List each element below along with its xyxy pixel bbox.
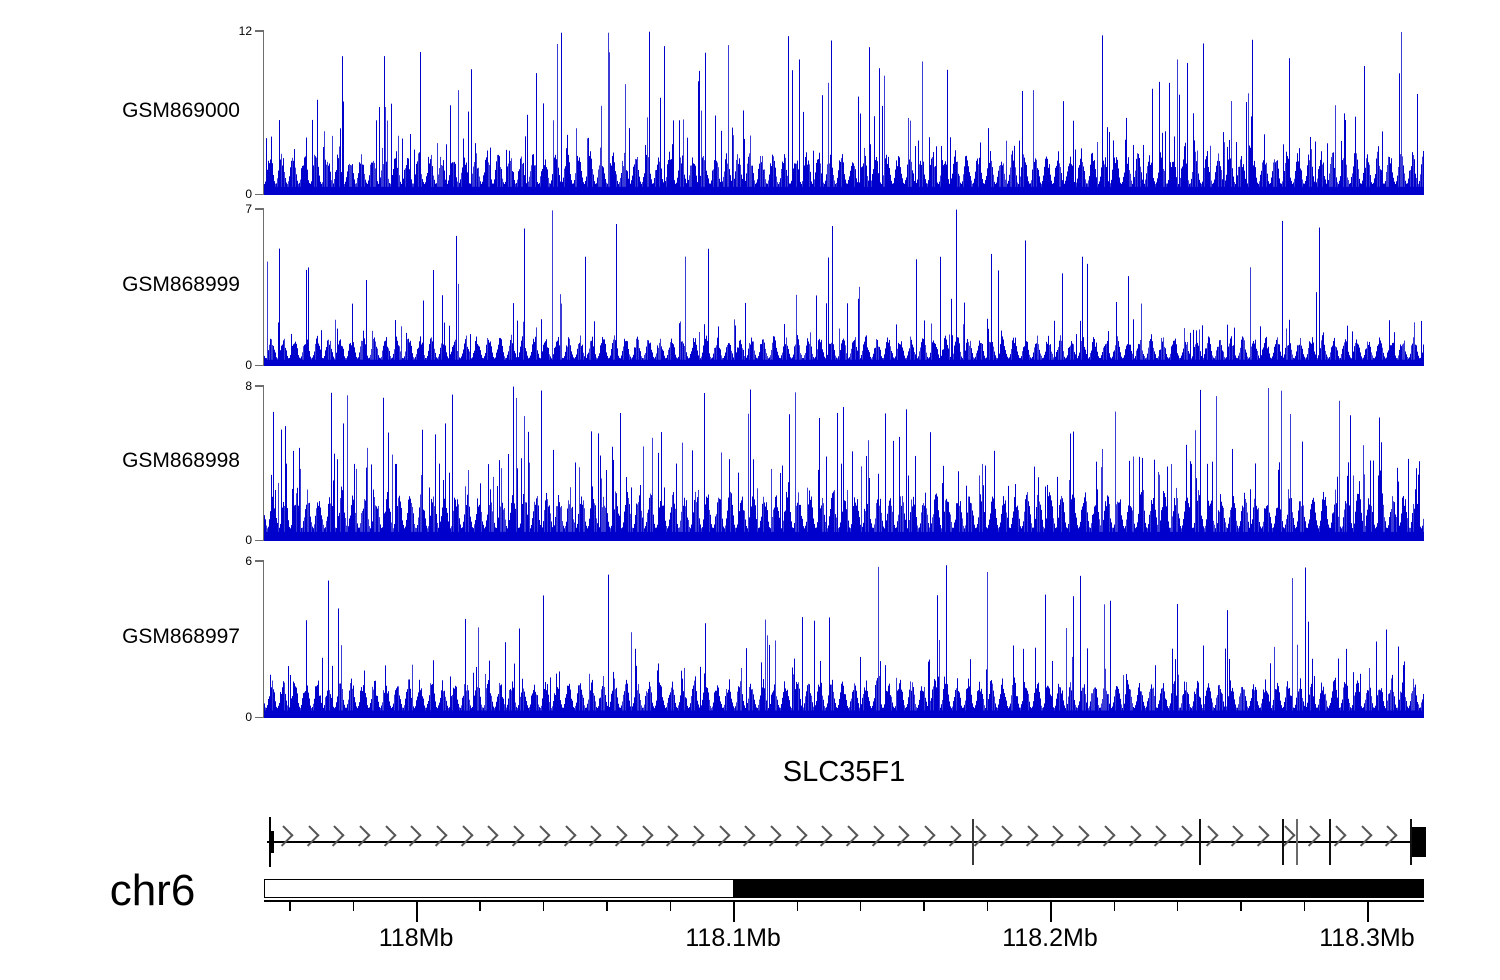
genome-browser-view: GSM869000120GSM86899970GSM86899880GSM868…: [0, 0, 1500, 980]
intron-line: [267, 841, 1424, 843]
axis-major-tick: [1050, 900, 1052, 922]
y-axis-min-label: 0: [245, 711, 252, 723]
strand-direction-arrow: [709, 825, 730, 846]
strand-direction-arrow: [966, 825, 987, 846]
axis-tick-label: 118Mb: [379, 924, 454, 953]
strand-direction-arrow: [1223, 825, 1244, 846]
strand-direction-arrow: [786, 825, 807, 846]
axis-minor-tick: [923, 900, 925, 911]
strand-direction-arrow: [1043, 825, 1064, 846]
track-label-GSM869000: GSM869000: [60, 99, 240, 123]
axis-major-tick: [1367, 900, 1369, 922]
axis-minor-tick: [797, 900, 799, 911]
axis-baseline: [264, 900, 1424, 902]
axis-major-tick: [733, 900, 735, 922]
strand-direction-arrow: [1377, 825, 1398, 846]
strand-direction-arrow: [452, 825, 473, 846]
strand-direction-arrow: [1248, 825, 1269, 846]
axis-tick-label: 118.1Mb: [685, 924, 780, 953]
y-axis-max-label: 12: [239, 25, 252, 37]
exon-marker: [1282, 819, 1284, 865]
ideogram-dark-band: [733, 880, 1423, 897]
coverage-track-GSM868998[interactable]: GSM86899880: [0, 385, 1500, 541]
coverage-canvas: [264, 385, 1424, 541]
exon-marker: [1329, 819, 1331, 865]
axis-tick-label: 118.3Mb: [1319, 924, 1414, 953]
strand-direction-arrow: [658, 825, 679, 846]
strand-direction-arrow: [1017, 825, 1038, 846]
strand-direction-arrow: [837, 825, 858, 846]
track-label-GSM868997: GSM868997: [60, 625, 240, 649]
coverage-track-GSM868999[interactable]: GSM86899970: [0, 208, 1500, 366]
strand-direction-arrow: [272, 825, 293, 846]
strand-direction-arrow: [298, 825, 319, 846]
y-axis-tick-min: [255, 717, 264, 719]
y-axis-max-label: 6: [245, 555, 252, 567]
coverage-plot-GSM868999: [264, 208, 1424, 366]
strand-direction-arrow: [606, 825, 627, 846]
y-axis-tick-max: [255, 560, 264, 562]
strand-direction-arrow: [1094, 825, 1115, 846]
strand-direction-arrow: [1274, 825, 1295, 846]
strand-direction-arrow: [375, 825, 396, 846]
chromosome-label: chr6: [60, 866, 245, 916]
strand-direction-arrow: [863, 825, 884, 846]
exon-marker: [1412, 827, 1426, 857]
strand-direction-arrow: [1300, 825, 1321, 846]
axis-minor-tick: [670, 900, 672, 911]
axis-minor-tick: [479, 900, 481, 911]
coverage-canvas: [264, 30, 1424, 195]
y-axis-max-label: 7: [245, 203, 252, 215]
y-axis-GSM869000: 120: [255, 30, 264, 195]
coverage-plot-GSM868997: [264, 560, 1424, 718]
y-axis-max-label: 8: [245, 380, 252, 392]
y-axis-GSM868999: 70: [255, 208, 264, 366]
strand-direction-arrow: [581, 825, 602, 846]
gene-model-track[interactable]: [264, 808, 1424, 876]
axis-minor-tick: [353, 900, 355, 911]
track-label-GSM868998: GSM868998: [60, 449, 240, 473]
coverage-canvas: [264, 208, 1424, 366]
y-axis-tick-max: [255, 208, 264, 210]
y-axis-min-label: 0: [245, 188, 252, 200]
axis-minor-tick: [606, 900, 608, 911]
exon-marker: [972, 819, 974, 865]
axis-minor-tick: [543, 900, 545, 911]
axis-minor-tick: [1177, 900, 1179, 911]
strand-direction-arrow: [478, 825, 499, 846]
y-axis-tick-max: [255, 30, 264, 32]
strand-direction-arrow: [760, 825, 781, 846]
strand-direction-arrow: [401, 825, 422, 846]
strand-direction-arrow: [1351, 825, 1372, 846]
strand-direction-arrow: [632, 825, 653, 846]
strand-direction-arrow: [504, 825, 525, 846]
strand-direction-arrow: [914, 825, 935, 846]
axis-major-tick: [416, 900, 418, 922]
axis-minor-tick: [987, 900, 989, 911]
coverage-track-GSM869000[interactable]: GSM869000120: [0, 30, 1500, 195]
axis-minor-tick: [1114, 900, 1116, 911]
strand-direction-arrow: [1069, 825, 1090, 846]
y-axis-GSM868998: 80: [255, 385, 264, 541]
strand-direction-arrow: [324, 825, 345, 846]
coverage-track-GSM868997[interactable]: GSM86899760: [0, 560, 1500, 718]
y-axis-min-label: 0: [245, 534, 252, 546]
y-axis-tick-max: [255, 385, 264, 387]
strand-direction-arrow: [1146, 825, 1167, 846]
gene-title: SLC35F1: [264, 756, 1424, 789]
strand-direction-arrow: [529, 825, 550, 846]
strand-direction-arrow: [349, 825, 370, 846]
strand-direction-arrow: [991, 825, 1012, 846]
gene-annotation-panel: SLC35F1: [0, 756, 1500, 876]
strand-direction-arrow: [555, 825, 576, 846]
coverage-plot-GSM868998: [264, 385, 1424, 541]
strand-direction-arrow: [940, 825, 961, 846]
y-axis-GSM868997: 60: [255, 560, 264, 718]
strand-direction-arrow: [812, 825, 833, 846]
strand-direction-arrow: [1120, 825, 1141, 846]
coverage-canvas: [264, 560, 1424, 718]
y-axis-min-label: 0: [245, 359, 252, 371]
track-label-GSM868999: GSM868999: [60, 273, 240, 297]
y-axis-tick-min: [255, 365, 264, 367]
coverage-plot-GSM869000: [264, 30, 1424, 195]
y-axis-tick-min: [255, 540, 264, 542]
strand-direction-arrow: [889, 825, 910, 846]
strand-direction-arrow: [426, 825, 447, 846]
axis-minor-tick: [289, 900, 291, 911]
axis-tick-label: 118.2Mb: [1002, 924, 1097, 953]
exon-marker: [1199, 819, 1201, 865]
axis-minor-tick: [1304, 900, 1306, 911]
exon-marker: [269, 817, 271, 867]
axis-minor-tick: [1240, 900, 1242, 911]
y-axis-tick-min: [255, 194, 264, 196]
strand-direction-arrow: [683, 825, 704, 846]
genomic-coordinate-axis: 118Mb118.1Mb118.2Mb118.3Mb: [264, 900, 1424, 976]
axis-minor-tick: [860, 900, 862, 911]
strand-direction-arrow: [1171, 825, 1192, 846]
exon-marker: [1296, 819, 1298, 865]
chromosome-ideogram[interactable]: [264, 879, 1424, 898]
strand-direction-arrow: [735, 825, 756, 846]
